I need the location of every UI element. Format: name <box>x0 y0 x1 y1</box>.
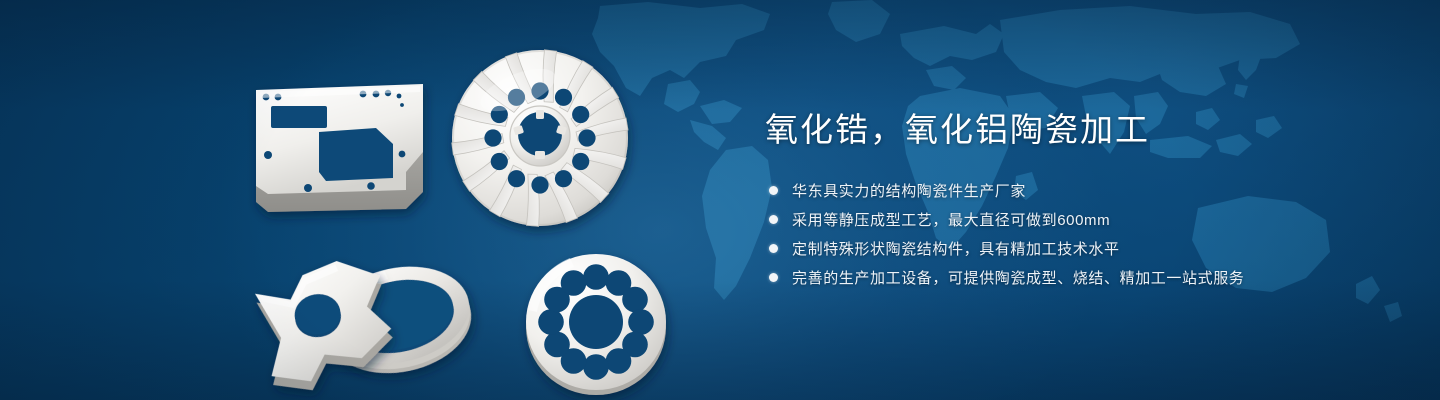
page-title: 氧化锆，氧化铝陶瓷加工 <box>765 108 1385 152</box>
dot-icon <box>769 215 778 224</box>
feature-text: 定制特殊形状陶瓷结构件，具有精加工技术水平 <box>792 238 1120 259</box>
bottom-shade-overlay <box>0 280 1440 400</box>
feature-text: 采用等静压成型工艺，最大直径可做到600mm <box>792 209 1110 230</box>
dot-icon <box>769 244 778 253</box>
dot-icon <box>769 186 778 195</box>
top-shade-overlay <box>0 0 1440 110</box>
product-ceramic-perforated-disc <box>526 254 666 395</box>
product-ceramic-cross-part <box>252 254 399 397</box>
list-item: 采用等静压成型工艺，最大直径可做到600mm <box>765 207 1385 232</box>
banner-text-block: 氧化锆，氧化铝陶瓷加工 华东具实力的结构陶瓷件生产厂家 采用等静压成型工艺，最大… <box>765 108 1385 294</box>
list-item: 定制特殊形状陶瓷结构件，具有精加工技术水平 <box>765 236 1385 261</box>
dot-icon <box>769 273 778 282</box>
feature-text: 华东具实力的结构陶瓷件生产厂家 <box>792 180 1026 201</box>
feature-text: 完善的生产加工设备，可提供陶瓷成型、烧结、精加工一站式服务 <box>792 267 1244 288</box>
list-item: 华东具实力的结构陶瓷件生产厂家 <box>765 178 1385 203</box>
list-item: 完善的生产加工设备，可提供陶瓷成型、烧结、精加工一站式服务 <box>765 265 1385 290</box>
product-ceramic-impeller-disc <box>451 48 628 228</box>
feature-list: 华东具实力的结构陶瓷件生产厂家 采用等静压成型工艺，最大直径可做到600mm 定… <box>765 178 1385 290</box>
hero-banner: 氧化锆，氧化铝陶瓷加工 华东具实力的结构陶瓷件生产厂家 采用等静压成型工艺，最大… <box>0 0 1440 400</box>
product-ceramic-mounting-plate <box>256 84 423 212</box>
product-photo-cluster <box>230 40 700 385</box>
